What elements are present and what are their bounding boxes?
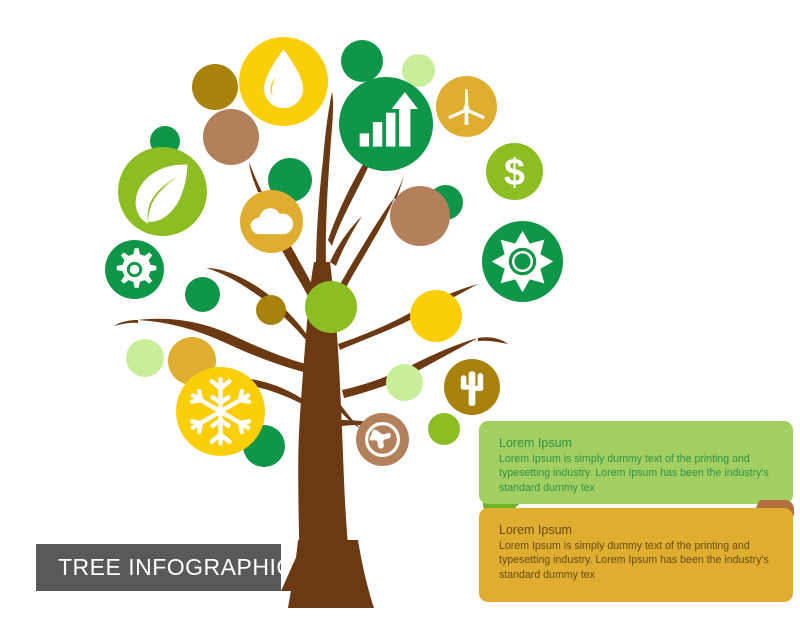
page-title: TREE INFOGRAPHIC	[58, 554, 293, 581]
globe-icon[interactable]	[356, 413, 409, 466]
callout-gold-heading: Lorem Ipsum	[499, 523, 773, 537]
decorative-circle	[341, 40, 383, 82]
branch-left-lower2	[114, 320, 138, 326]
callout-green-heading: Lorem Ipsum	[499, 436, 773, 450]
sun-icon[interactable]	[482, 221, 563, 302]
branch-left-tip	[249, 162, 262, 192]
snowflake-icon[interactable]	[176, 367, 265, 456]
branch-right-lower2	[478, 337, 508, 344]
water-drop-icon[interactable]	[239, 37, 328, 126]
callout-gold-body: Lorem Ipsum is simply dummy text of the …	[499, 539, 773, 582]
decorative-circle	[386, 364, 423, 401]
infographic-canvas: $	[0, 0, 800, 623]
decorative-circle	[305, 281, 357, 333]
leaf-icon[interactable]	[118, 147, 207, 236]
callout-green-body: Lorem Ipsum is simply dummy text of the …	[499, 452, 773, 495]
decorative-circle	[428, 413, 460, 445]
dollar-icon[interactable]: $	[486, 143, 543, 200]
decorative-circle	[256, 295, 286, 325]
title-banner: TREE INFOGRAPHIC	[36, 544, 281, 591]
decorative-circle	[410, 290, 462, 342]
callout-gold[interactable]: Lorem Ipsum Lorem Ipsum is simply dummy …	[479, 508, 793, 602]
cloud-icon[interactable]	[240, 190, 303, 253]
cactus-icon[interactable]	[444, 359, 500, 415]
callout-green[interactable]: Lorem Ipsum Lorem Ipsum is simply dummy …	[479, 421, 793, 504]
decorative-circle	[390, 186, 450, 246]
wind-turbine-icon[interactable]	[436, 76, 497, 137]
svg-text:$: $	[504, 151, 525, 193]
decorative-circle	[126, 339, 164, 377]
branch-left-lower	[138, 319, 306, 372]
decorative-circle	[192, 64, 238, 110]
decorative-circle	[185, 277, 220, 312]
growth-chart-icon[interactable]	[339, 77, 433, 171]
gear-icon[interactable]	[105, 240, 164, 299]
